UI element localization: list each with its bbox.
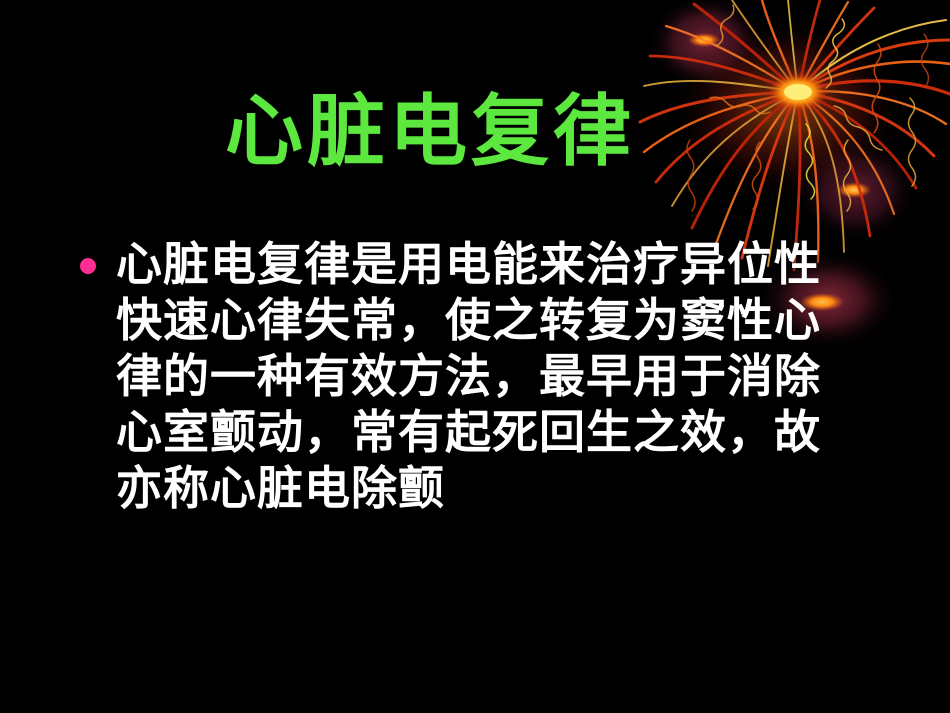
bullet-line: 律的一种有效方法，最早用于消除 [116, 348, 872, 404]
bullet-line: 亦称心脏电除颤 [116, 460, 872, 516]
bullet-paragraph: 心脏电复律是用电能来治疗异位性 快速心律失常，使之转复为窦性心 律的一种有效方法… [116, 236, 872, 516]
list-item: 心脏电复律是用电能来治疗异位性 快速心律失常，使之转复为窦性心 律的一种有效方法… [72, 236, 872, 516]
bullet-line: 心脏电复律是用电能来治疗异位性 [116, 236, 872, 292]
slide-title: 心脏电复律 [0, 84, 860, 180]
bullet-line: 快速心律失常，使之转复为窦性心 [116, 292, 872, 348]
slide-canvas: 心脏电复律 心脏电复律是用电能来治疗异位性 快速心律失常，使之转复为窦性心 律的… [0, 0, 950, 713]
bullet-line: 心室颤动，常有起死回生之效，故 [116, 404, 872, 460]
slide-body: 心脏电复律是用电能来治疗异位性 快速心律失常，使之转复为窦性心 律的一种有效方法… [72, 236, 872, 516]
bullet-dot-icon [80, 258, 96, 274]
